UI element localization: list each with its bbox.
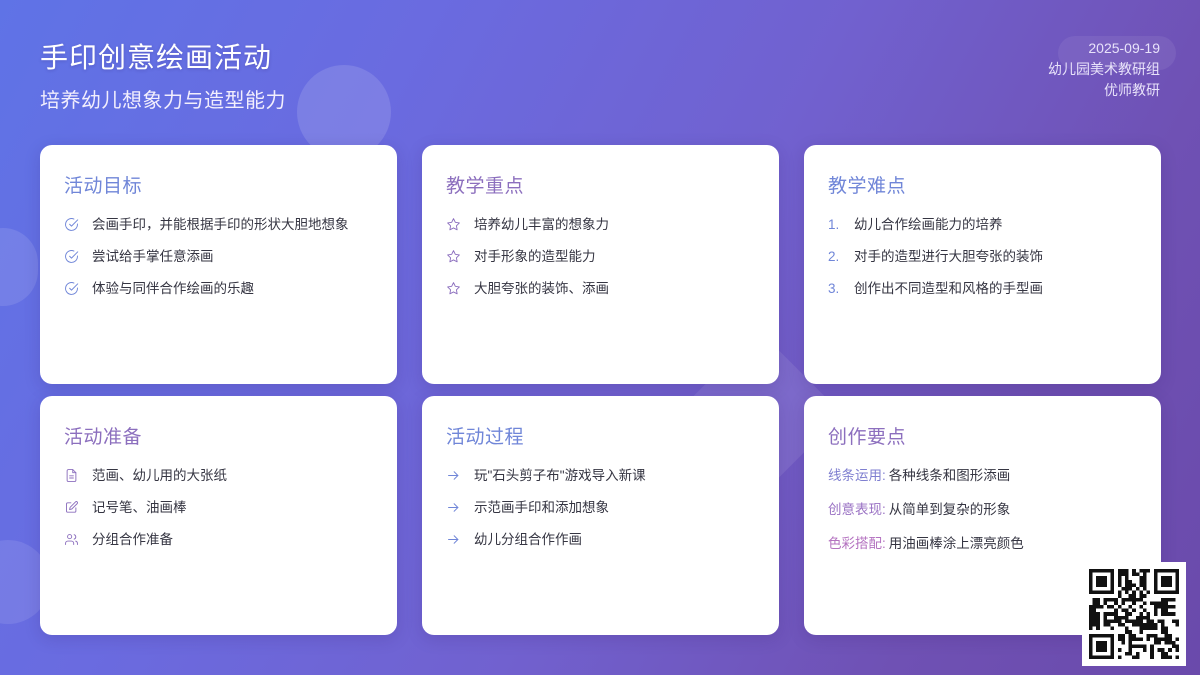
list-item: 玩"石头剪子布"游戏导入新课 — [446, 466, 755, 485]
item-value: 从简单到复杂的形象 — [889, 500, 1011, 519]
list-item: 大胆夸张的装饰、添画 — [446, 279, 755, 298]
item-text: 范画、幼儿用的大张纸 — [92, 466, 373, 485]
item-number: 3. — [828, 279, 848, 298]
list-item: 培养幼儿丰富的想象力 — [446, 215, 755, 234]
check-circle-icon — [64, 215, 84, 234]
list-item: 对手形象的造型能力 — [446, 247, 755, 266]
page-subtitle: 培养幼儿想象力与造型能力 — [40, 84, 286, 113]
list-item: 体验与同伴合作绘画的乐趣 — [64, 279, 373, 298]
list-item: 记号笔、油画棒 — [64, 498, 373, 517]
document-icon — [64, 466, 84, 485]
card-item-list: 范画、幼儿用的大张纸记号笔、油画棒分组合作准备 — [64, 466, 373, 549]
arrow-right-icon — [446, 530, 466, 549]
card-title: 活动过程 — [446, 422, 755, 449]
check-circle-icon — [64, 279, 84, 298]
meta-date: 2025-09-19 — [1048, 38, 1160, 59]
page-title: 手印创意绘画活动 — [40, 36, 272, 76]
list-item: 创意表现:从简单到复杂的形象 — [828, 500, 1137, 519]
header: 手印创意绘画活动 培养幼儿想象力与造型能力 2025-09-19 幼儿园美术教研… — [0, 0, 1200, 135]
list-item: 2.对手的造型进行大胆夸张的装饰 — [828, 247, 1137, 266]
item-value: 用油画棒涂上漂亮颜色 — [889, 534, 1024, 553]
item-label: 创意表现: — [828, 500, 886, 519]
qr-code-container[interactable] — [1082, 562, 1186, 666]
header-meta: 2025-09-19 幼儿园美术教研组 优师教研 — [1048, 38, 1160, 101]
arrow-right-icon — [446, 466, 466, 485]
card-item-list: 会画手印，并能根据手印的形状大胆地想象尝试给手掌任意添画体验与同伴合作绘画的乐趣 — [64, 215, 373, 298]
list-item: 范画、幼儿用的大张纸 — [64, 466, 373, 485]
list-item: 尝试给手掌任意添画 — [64, 247, 373, 266]
item-text: 创作出不同造型和风格的手型画 — [854, 279, 1137, 298]
star-icon — [446, 247, 466, 266]
star-icon — [446, 215, 466, 234]
item-number: 1. — [828, 215, 848, 234]
edit-square-icon — [64, 498, 84, 517]
card-3: 教学难点1.幼儿合作绘画能力的培养2.对手的造型进行大胆夸张的装饰3.创作出不同… — [804, 145, 1161, 384]
item-text: 尝试给手掌任意添画 — [92, 247, 373, 266]
item-text: 对手的造型进行大胆夸张的装饰 — [854, 247, 1137, 266]
users-icon — [64, 530, 84, 549]
cards-grid: 活动目标会画手印，并能根据手印的形状大胆地想象尝试给手掌任意添画体验与同伴合作绘… — [40, 145, 1160, 635]
item-text: 体验与同伴合作绘画的乐趣 — [92, 279, 373, 298]
item-text: 分组合作准备 — [92, 530, 373, 549]
item-text: 幼儿合作绘画能力的培养 — [854, 215, 1137, 234]
card-title: 创作要点 — [828, 422, 1137, 449]
card-item-list: 1.幼儿合作绘画能力的培养2.对手的造型进行大胆夸张的装饰3.创作出不同造型和风… — [828, 215, 1137, 298]
item-value: 各种线条和图形添画 — [889, 466, 1011, 485]
item-label: 线条运用: — [828, 466, 886, 485]
meta-org: 幼儿园美术教研组 — [1048, 59, 1160, 80]
list-item: 色彩搭配:用油画棒涂上漂亮颜色 — [828, 534, 1137, 553]
item-text: 记号笔、油画棒 — [92, 498, 373, 517]
item-text: 玩"石头剪子布"游戏导入新课 — [474, 466, 755, 485]
list-item: 幼儿分组合作作画 — [446, 530, 755, 549]
card-item-list: 线条运用:各种线条和图形添画创意表现:从简单到复杂的形象色彩搭配:用油画棒涂上漂… — [828, 466, 1137, 553]
meta-brand: 优师教研 — [1048, 80, 1160, 101]
item-text: 会画手印，并能根据手印的形状大胆地想象 — [92, 215, 373, 234]
item-label: 色彩搭配: — [828, 534, 886, 553]
list-item: 1.幼儿合作绘画能力的培养 — [828, 215, 1137, 234]
card-4: 活动准备范画、幼儿用的大张纸记号笔、油画棒分组合作准备 — [40, 396, 397, 635]
item-text: 幼儿分组合作作画 — [474, 530, 755, 549]
item-text: 示范画手印和添加想象 — [474, 498, 755, 517]
card-title: 活动目标 — [64, 171, 373, 198]
list-item: 3.创作出不同造型和风格的手型画 — [828, 279, 1137, 298]
arrow-right-icon — [446, 498, 466, 517]
item-text: 大胆夸张的装饰、添画 — [474, 279, 755, 298]
card-item-list: 玩"石头剪子布"游戏导入新课示范画手印和添加想象幼儿分组合作作画 — [446, 466, 755, 549]
check-circle-icon — [64, 247, 84, 266]
card-2: 教学重点培养幼儿丰富的想象力对手形象的造型能力大胆夸张的装饰、添画 — [422, 145, 779, 384]
card-title: 活动准备 — [64, 422, 373, 449]
list-item: 会画手印，并能根据手印的形状大胆地想象 — [64, 215, 373, 234]
card-5: 活动过程玩"石头剪子布"游戏导入新课示范画手印和添加想象幼儿分组合作作画 — [422, 396, 779, 635]
item-text: 培养幼儿丰富的想象力 — [474, 215, 755, 234]
item-text: 对手形象的造型能力 — [474, 247, 755, 266]
star-icon — [446, 279, 466, 298]
card-title: 教学重点 — [446, 171, 755, 198]
qr-code-icon — [1089, 569, 1179, 659]
decor-pill-left — [0, 228, 38, 306]
slide-root: 手印创意绘画活动 培养幼儿想象力与造型能力 2025-09-19 幼儿园美术教研… — [0, 0, 1200, 675]
card-item-list: 培养幼儿丰富的想象力对手形象的造型能力大胆夸张的装饰、添画 — [446, 215, 755, 298]
list-item: 线条运用:各种线条和图形添画 — [828, 466, 1137, 485]
list-item: 分组合作准备 — [64, 530, 373, 549]
card-title: 教学难点 — [828, 171, 1137, 198]
card-1: 活动目标会画手印，并能根据手印的形状大胆地想象尝试给手掌任意添画体验与同伴合作绘… — [40, 145, 397, 384]
item-number: 2. — [828, 247, 848, 266]
list-item: 示范画手印和添加想象 — [446, 498, 755, 517]
